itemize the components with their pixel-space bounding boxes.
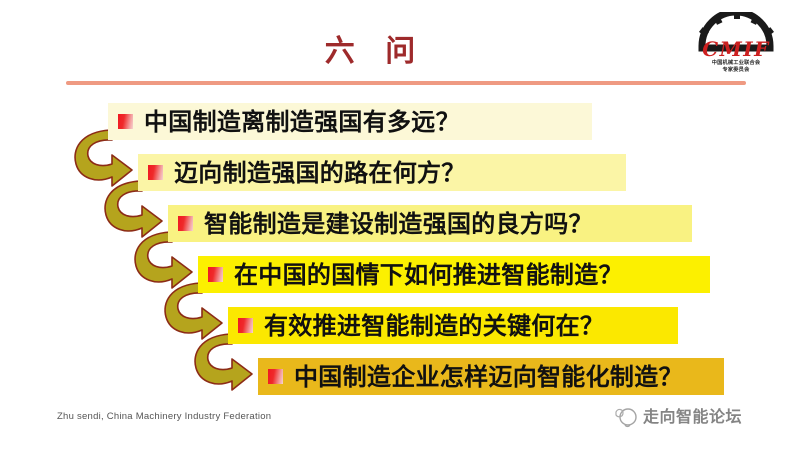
question-row: 迈向制造强国的路在何方？ xyxy=(138,154,626,191)
question-row: 中国制造企业怎样迈向智能化制造？ xyxy=(258,358,724,395)
question-row: 有效推进智能制造的关键何在？ xyxy=(228,307,678,344)
red-square-bullet-icon xyxy=(268,369,283,384)
red-square-bullet-icon xyxy=(178,216,193,231)
question-row: 智能制造是建设制造强国的良方吗？ xyxy=(168,205,692,242)
question-text: 在中国的国情下如何推进智能制造？ xyxy=(234,263,623,287)
presentation-slide: 六 问 CMIF 中国机械工业联合会 专家委员会 xyxy=(0,0,800,450)
svg-text:CMIF: CMIF xyxy=(702,37,770,61)
cmif-logo: CMIF 中国机械工业联合会 专家委员会 xyxy=(684,12,788,74)
cmif-wordmark: CMIF xyxy=(702,37,770,61)
red-square-bullet-icon xyxy=(238,318,253,333)
title-divider xyxy=(66,81,746,85)
question-text: 中国制造离制造强国有多远？ xyxy=(144,110,460,134)
question-text: 有效推进智能制造的关键何在？ xyxy=(264,314,604,338)
question-text: 智能制造是建设制造强国的良方吗？ xyxy=(204,212,593,236)
red-square-bullet-icon xyxy=(118,114,133,129)
forum-logo-icon xyxy=(612,406,638,428)
question-row: 中国制造离制造强国有多远？ xyxy=(108,103,592,140)
author-credit: Zhu sendi, China Machinery Industry Fede… xyxy=(57,411,271,422)
logo-org-name: 中国机械工业联合会 专家委员会 xyxy=(684,60,788,73)
page-title: 六 问 xyxy=(0,26,740,70)
watermark: 走向智能论坛 xyxy=(612,406,742,428)
red-square-bullet-icon xyxy=(208,267,223,282)
logo-org-line2: 专家委员会 xyxy=(684,67,788,73)
question-text: 中国制造企业怎样迈向智能化制造？ xyxy=(294,365,683,389)
question-text: 迈向制造强国的路在何方？ xyxy=(174,161,466,185)
red-square-bullet-icon xyxy=(148,165,163,180)
watermark-text: 走向智能论坛 xyxy=(643,409,742,425)
question-row: 在中国的国情下如何推进智能制造？ xyxy=(198,256,710,293)
